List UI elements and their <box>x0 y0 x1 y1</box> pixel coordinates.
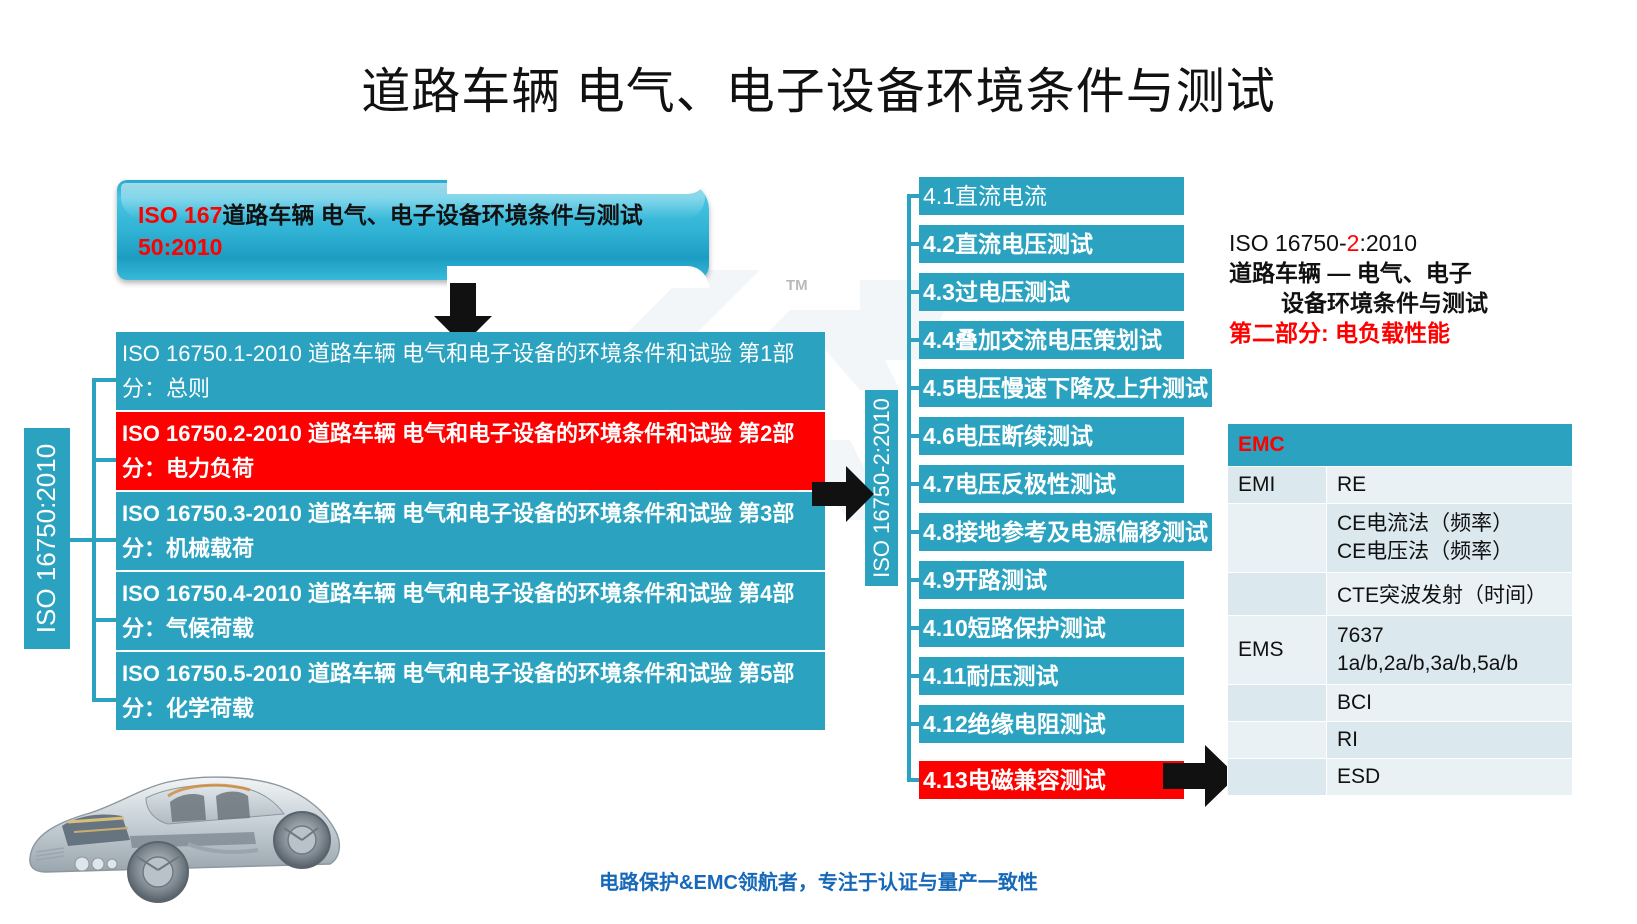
left-item-5[interactable]: ISO 16750.5-2010 道路车辆 电气和电子设备的环境条件和试验 第5… <box>116 652 825 730</box>
banner-red-suffix: 50:2010 <box>138 234 222 260</box>
table-row[interactable]: EMI RE <box>1228 467 1573 504</box>
table-row[interactable]: CE电流法（频率） CE电压法（频率） <box>1228 504 1573 573</box>
arrow-right-to-emc-icon <box>1163 745 1237 807</box>
emc-test-ri: RI <box>1327 722 1573 759</box>
emc-category-blank-2 <box>1228 573 1327 616</box>
left-item-5-line1: ISO 16750.5-2010 道路车辆 电气和电子设备的环境条件和试验 第5… <box>122 661 794 686</box>
footer-slogan: 电路保护&EMC领航者，专注于认证与量产一致性 <box>0 866 1637 895</box>
trademark-mark: TM <box>786 277 808 294</box>
table-row[interactable]: ESD <box>1228 759 1573 796</box>
mid-item-4-12[interactable]: 4.12绝缘电阻测试 <box>919 705 1184 743</box>
banner-text: ISO 167道路车辆 电气、电子设备环境条件与测试 50:2010 <box>138 199 691 263</box>
left-item-2-line2: 分：电力负荷 <box>122 451 825 486</box>
table-row[interactable]: BCI <box>1228 685 1573 722</box>
mid-item-4-5[interactable]: 4.5电压慢速下降及上升测试 <box>919 369 1212 407</box>
arrow-right-to-middle-icon <box>812 466 874 522</box>
iso-16750-2-description: ISO 16750-2:2010 道路车辆 — 电气、电子 设备环境条件与测试 … <box>1229 228 1609 348</box>
mid-item-4-6[interactable]: 4.6电压断续测试 <box>919 417 1184 455</box>
mid-item-4-2[interactable]: 4.2直流电压测试 <box>919 225 1184 263</box>
emc-test-cte: CTE突波发射（时间） <box>1327 573 1573 616</box>
left-item-4[interactable]: ISO 16750.4-2010 道路车辆 电气和电子设备的环境条件和试验 第4… <box>116 572 825 650</box>
left-item-3-line1: ISO 16750.3-2010 道路车辆 电气和电子设备的环境条件和试验 第3… <box>122 501 794 526</box>
emc-category-blank-3 <box>1228 685 1327 722</box>
mid-item-4-13[interactable]: 4.13电磁兼容测试 <box>919 761 1184 799</box>
emc-test-7637: 7637 1a/b,2a/b,3a/b,5a/b <box>1327 616 1573 685</box>
left-item-3-line2: 分：机械载荷 <box>122 531 825 566</box>
left-item-5-line2: 分：化学荷载 <box>122 691 825 726</box>
banner-black-text: 道路车辆 电气、电子设备环境条件与测试 <box>222 202 642 228</box>
connector-mid-spine <box>907 196 911 782</box>
page-title: 道路车辆 电气、电子设备环境条件与测试 <box>0 62 1637 122</box>
table-row[interactable]: EMS 7637 1a/b,2a/b,3a/b,5a/b <box>1228 616 1573 685</box>
emc-test-ce: CE电流法（频率） CE电压法（频率） <box>1327 504 1573 573</box>
left-group-vertical-label: ISO 16750:2010 <box>24 428 70 649</box>
emc-category-blank-1 <box>1228 504 1327 573</box>
mid-item-4-10[interactable]: 4.10短路保护测试 <box>919 609 1184 647</box>
mid-item-4-9[interactable]: 4.9开路测试 <box>919 561 1184 599</box>
emc-test-esd: ESD <box>1327 759 1573 796</box>
left-item-4-line2: 分：气候荷载 <box>122 611 825 646</box>
mid-item-4-11[interactable]: 4.11耐压测试 <box>919 657 1184 695</box>
left-item-1-line2: 分：总则 <box>122 371 825 406</box>
desc-line-1-pre: ISO 16750- <box>1229 230 1347 256</box>
emc-category-blank-5 <box>1228 759 1327 796</box>
emc-header-label: EMC <box>1228 424 1573 467</box>
desc-line-1-red: 2 <box>1347 230 1360 256</box>
emc-test-bci: BCI <box>1327 685 1573 722</box>
desc-line-3: 设备环境条件与测试 <box>1229 288 1609 318</box>
emc-header-row: EMC <box>1228 424 1573 467</box>
left-item-2-line1: ISO 16750.2-2010 道路车辆 电气和电子设备的环境条件和试验 第2… <box>122 421 794 446</box>
table-row[interactable]: RI <box>1228 722 1573 759</box>
table-row[interactable]: CTE突波发射（时间） <box>1228 573 1573 616</box>
banner-notch-top <box>447 172 709 194</box>
emc-category-emi: EMI <box>1228 467 1327 504</box>
left-item-1[interactable]: ISO 16750.1-2010 道路车辆 电气和电子设备的环境条件和试验 第1… <box>116 332 825 410</box>
iso-16750-banner: ISO 167道路车辆 电气、电子设备环境条件与测试 50:2010 <box>117 180 709 280</box>
desc-line-1-post: :2010 <box>1359 230 1417 256</box>
emc-category-blank-4 <box>1228 722 1327 759</box>
banner-red-prefix: ISO 167 <box>138 202 222 228</box>
mid-item-4-8[interactable]: 4.8接地参考及电源偏移测试 <box>919 513 1212 551</box>
mid-item-4-4[interactable]: 4.4叠加交流电压策划试 <box>919 321 1184 359</box>
left-group-vertical-label-text: ISO 16750:2010 <box>32 444 63 633</box>
emc-test-re: RE <box>1327 467 1573 504</box>
mid-item-4-7[interactable]: 4.7电压反极性测试 <box>919 465 1184 503</box>
desc-line-2: 道路车辆 — 电气、电子 <box>1229 258 1609 288</box>
left-item-4-line1: ISO 16750.4-2010 道路车辆 电气和电子设备的环境条件和试验 第4… <box>122 581 794 606</box>
left-item-1-line1: ISO 16750.1-2010 道路车辆 电气和电子设备的环境条件和试验 第1… <box>122 341 794 366</box>
left-item-2[interactable]: ISO 16750.2-2010 道路车辆 电气和电子设备的环境条件和试验 第2… <box>116 412 825 490</box>
mid-item-4-1[interactable]: 4.1直流电流 <box>919 177 1184 215</box>
emc-category-ems: EMS <box>1228 616 1327 685</box>
left-item-3[interactable]: ISO 16750.3-2010 道路车辆 电气和电子设备的环境条件和试验 第3… <box>116 492 825 570</box>
mid-item-4-3[interactable]: 4.3过电压测试 <box>919 273 1184 311</box>
emc-table: EMC EMI RE CE电流法（频率） CE电压法（频率） CTE突波发射（时… <box>1227 423 1573 796</box>
desc-line-1: ISO 16750-2:2010 <box>1229 228 1609 258</box>
slide-canvas: 道路车辆 电气、电子设备环境条件与测试 ISO 167道路车辆 电气、电子设备环… <box>0 0 1637 924</box>
desc-line-4: 第二部分: 电负载性能 <box>1229 318 1609 348</box>
